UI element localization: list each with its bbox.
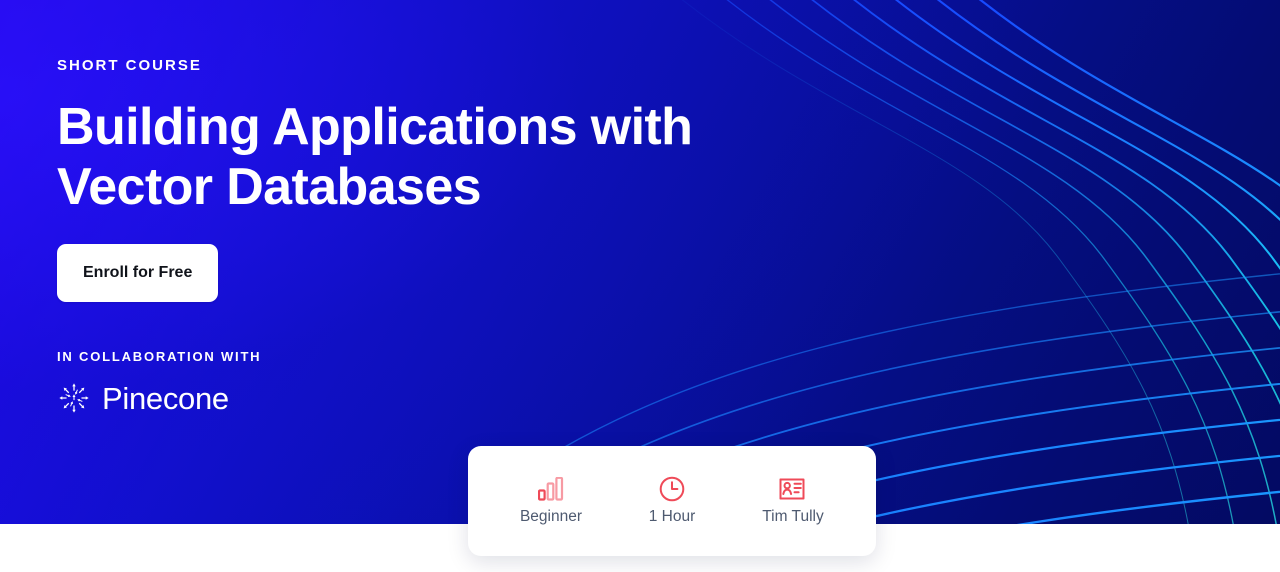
meta-label-difficulty: Beginner — [520, 509, 582, 525]
meta-item-instructor: Tim Tully — [756, 476, 830, 525]
enroll-button[interactable]: Enroll for Free — [57, 244, 218, 302]
bar-chart-level-icon — [538, 476, 564, 502]
course-type-eyebrow: SHORT COURSE — [57, 57, 757, 75]
collaboration-label: IN COLLABORATION WITH — [57, 349, 757, 364]
meta-item-duration: 1 Hour — [635, 476, 709, 525]
page-title-line-1: Building Applications with — [57, 98, 692, 156]
meta-item-difficulty: Beginner — [514, 476, 588, 525]
page-title-line-2: Vector Databases — [57, 158, 481, 216]
partner-name: Pinecone — [102, 383, 229, 414]
page-title: Building Applications with Vector Databa… — [57, 97, 717, 217]
partner-logo: Pinecone — [57, 381, 757, 415]
instructor-badge-icon — [779, 476, 807, 502]
meta-label-instructor: Tim Tully — [762, 509, 823, 525]
clock-icon — [659, 476, 685, 502]
hero-content: SHORT COURSE Building Applications with … — [57, 0, 757, 415]
course-hero-page: SHORT COURSE Building Applications with … — [0, 0, 1280, 572]
pinecone-arrows-icon — [57, 381, 91, 415]
meta-label-duration: 1 Hour — [649, 509, 696, 525]
course-meta-card: Beginner 1 Hour — [468, 446, 876, 556]
